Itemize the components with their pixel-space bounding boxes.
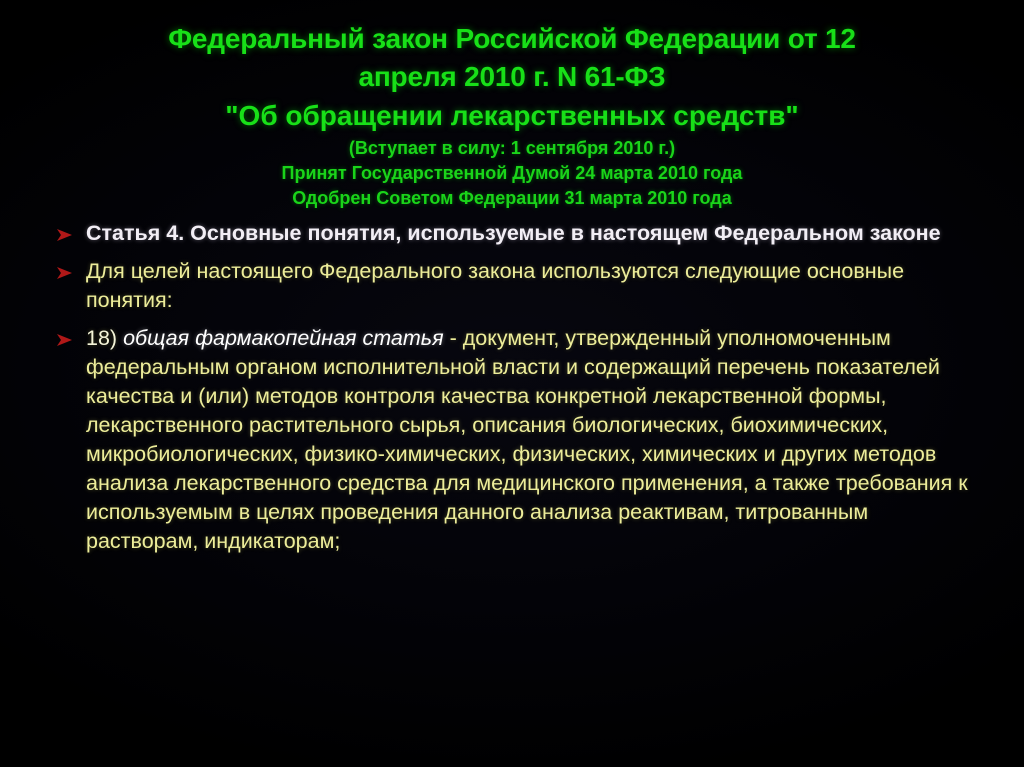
definition-body: - документ, утвержденный уполномоченным … bbox=[86, 326, 968, 553]
definition-number: 18) bbox=[86, 326, 117, 350]
subtitle-effective-date: (Вступает в силу: 1 сентября 2010 г.) bbox=[0, 136, 1024, 161]
subtitle-approved-council: Одобрен Советом Федерации 31 марта 2010 … bbox=[0, 186, 1024, 211]
list-item: Статья 4. Основные понятия, используемые… bbox=[56, 219, 980, 248]
arrow-bullet-icon bbox=[56, 219, 86, 242]
list-item-definition-18: 18) общая фармакопейная статья - докумен… bbox=[86, 324, 980, 556]
slide-body: Статья 4. Основные понятия, используемые… bbox=[0, 219, 1024, 556]
definition-term: общая фармакопейная статья bbox=[123, 326, 444, 350]
list-item: Для целей настоящего Федерального закона… bbox=[56, 257, 980, 315]
page-title-line-1: Федеральный закон Российской Федерации о… bbox=[0, 20, 1024, 58]
page-title-line-3: "Об обращении лекарственных средств" bbox=[0, 96, 1024, 136]
slide-title-block: Федеральный закон Российской Федерации о… bbox=[0, 0, 1024, 211]
page-title-line-2: апреля 2010 г. N 61-ФЗ bbox=[0, 58, 1024, 96]
arrow-bullet-icon bbox=[56, 257, 86, 280]
list-item-label-article-heading: Статья 4. Основные понятия, используемые… bbox=[86, 219, 980, 248]
presentation-slide: Федеральный закон Российской Федерации о… bbox=[0, 0, 1024, 767]
arrow-bullet-icon bbox=[56, 324, 86, 347]
subtitle-adopted-duma: Принят Государственной Думой 24 марта 20… bbox=[0, 161, 1024, 186]
list-item: 18) общая фармакопейная статья - докумен… bbox=[56, 324, 980, 556]
list-item-label-purpose: Для целей настоящего Федерального закона… bbox=[86, 257, 980, 315]
